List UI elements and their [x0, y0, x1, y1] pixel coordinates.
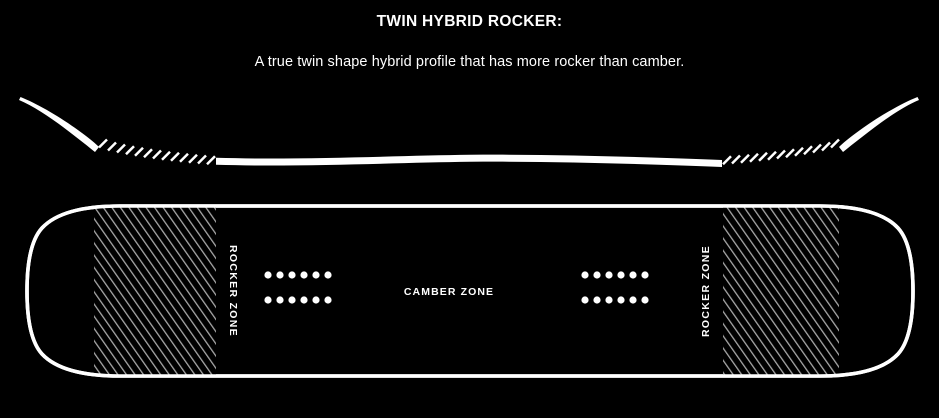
rocker-zone-tail-hatch	[723, 204, 839, 378]
rocker-zone-nose-hatch	[94, 204, 216, 378]
rocker-zone-nose-label: ROCKER ZONE	[227, 245, 239, 337]
rocker-zone-tail-label: ROCKER ZONE	[700, 245, 712, 337]
top-down-board-view	[0, 0, 939, 418]
camber-zone-label: CAMBER ZONE	[404, 286, 494, 298]
diagram-stage: TWIN HYBRID ROCKER: A true twin shape hy…	[0, 0, 939, 418]
